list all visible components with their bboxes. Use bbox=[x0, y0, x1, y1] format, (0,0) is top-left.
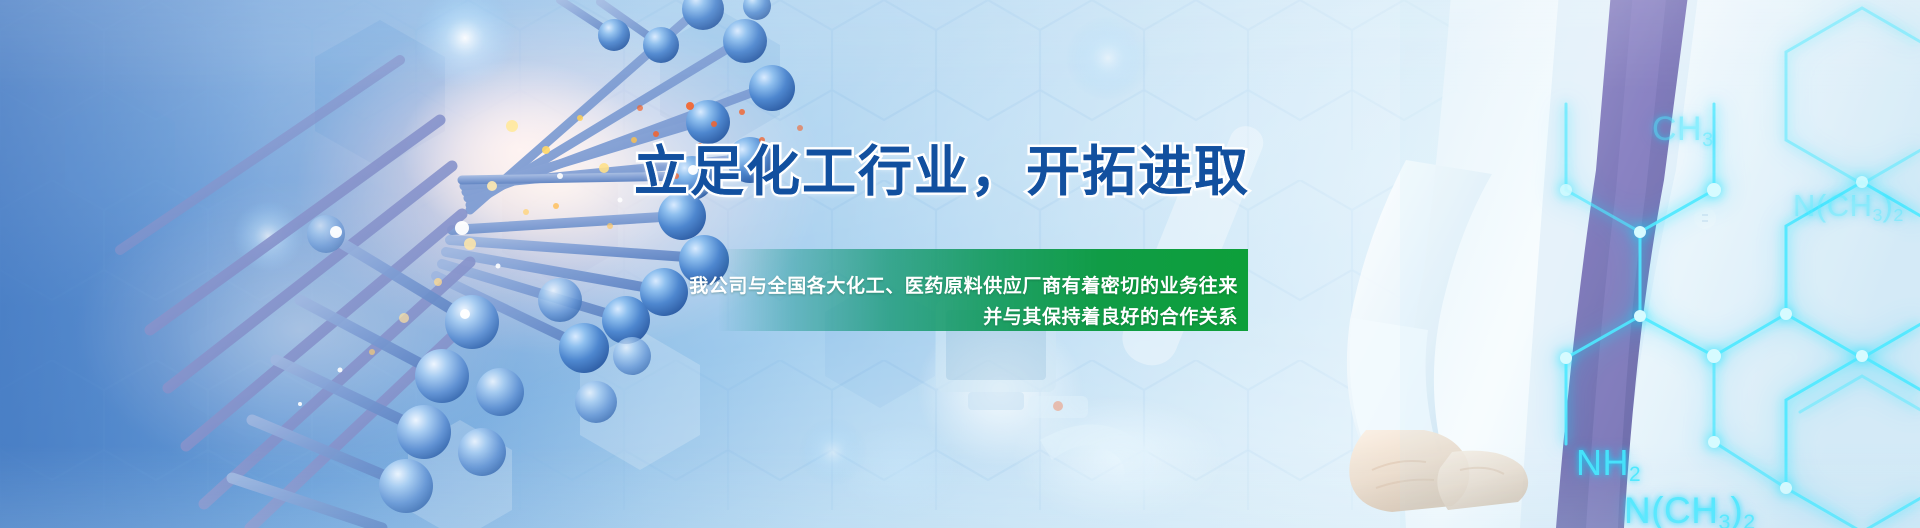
banner-copy: 立足化工行业，开拓进取 立足化工行业，开拓进取 我公司与全国各大化工、医药原料供… bbox=[0, 0, 1920, 528]
banner-headline: 立足化工行业，开拓进取 bbox=[0, 143, 1250, 201]
subtitle-line-1: 我公司与全国各大化工、医药原料供应厂商有着密切的业务往来 bbox=[689, 271, 1238, 298]
subtitle-panel: 我公司与全国各大化工、医药原料供应厂商有着密切的业务往来 并与其保持着良好的合作… bbox=[718, 249, 1248, 331]
subtitle-line-2: 并与其保持着良好的合作关系 bbox=[983, 302, 1238, 329]
hero-banner: CH3 N(CH3)2 NH2 N(CH3)2 立足化工行业，开拓进取 立足化工… bbox=[0, 0, 1920, 528]
